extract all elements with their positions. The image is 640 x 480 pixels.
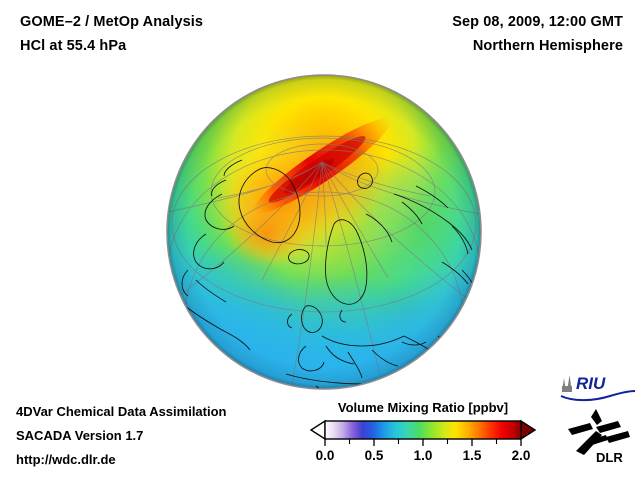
colorbar-scale — [307, 419, 539, 449]
footer-line-url: http://wdc.dlr.de — [16, 452, 116, 467]
colorbar-gradient — [325, 421, 521, 439]
visualization-page: GOME–2 / MetOp Analysis HCl at 55.4 hPa … — [0, 0, 640, 480]
colorbar-tick-label: 2.0 — [512, 448, 531, 463]
colorbar-tick-label: 0.0 — [316, 448, 335, 463]
dlr-mark-icon — [568, 409, 630, 455]
hemisphere-label: Northern Hemisphere — [473, 38, 623, 54]
timestamp-label: Sep 08, 2009, 12:00 GMT — [452, 14, 623, 30]
globe-map — [166, 74, 482, 390]
colorbar-ticks — [325, 439, 521, 446]
dlr-wordmark: DLR — [596, 450, 623, 465]
colorbar-min-arrow — [311, 421, 325, 439]
colorbar-max-arrow — [521, 421, 535, 439]
footer-line-assimilation: 4DVar Chemical Data Assimilation — [16, 404, 227, 419]
riu-spires-icon — [562, 375, 572, 392]
footer-line-version: SACADA Version 1.7 — [16, 428, 143, 443]
page-subtitle: HCl at 55.4 hPa — [20, 38, 126, 54]
colorbar-tick-labels: 0.0 0.5 1.0 1.5 2.0 — [307, 448, 539, 468]
colorbar-tick-label: 1.5 — [463, 448, 482, 463]
riu-logo: RIU — [560, 372, 636, 402]
colorbar-tick-label: 0.5 — [365, 448, 384, 463]
riu-wordmark: RIU — [576, 374, 606, 393]
dlr-logo: DLR — [566, 407, 634, 465]
colorbar: Volume Mixing Ratio [ppbv] — [307, 400, 539, 470]
orthographic-globe — [166, 74, 482, 390]
page-title: GOME–2 / MetOp Analysis — [20, 14, 203, 30]
colorbar-tick-label: 1.0 — [414, 448, 433, 463]
colorbar-title: Volume Mixing Ratio [ppbv] — [307, 400, 539, 415]
